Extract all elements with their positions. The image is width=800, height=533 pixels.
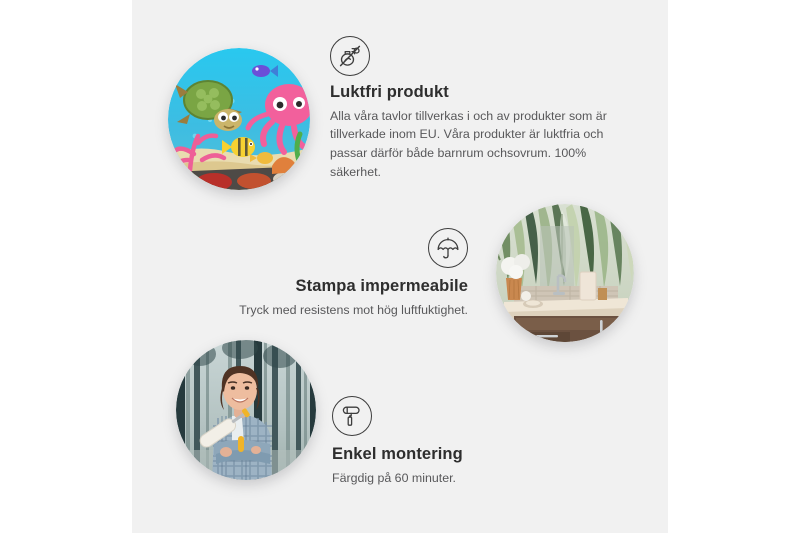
bathroom-tropical-wallpaper-photo	[496, 204, 634, 342]
feature-description: Alla våra tavlor tillverkas i och av pro…	[330, 107, 626, 181]
feature-title: Luktfri produkt	[330, 83, 626, 103]
feature-block-waterproof: Stampa impermeabile Tryck med resistens …	[190, 228, 468, 319]
feature-block-easy-mount: Enkel montering Färgdig på 60 minuter.	[332, 396, 602, 487]
feature-highlights-banner: Luktfri produkt Alla våra tavlor tillver…	[0, 0, 800, 533]
umbrella-icon	[428, 228, 468, 268]
feature-title: Enkel montering	[332, 445, 602, 465]
feature-title: Stampa impermeabile	[190, 277, 468, 297]
paint-roller-icon	[332, 396, 372, 436]
feature-description: Tryck med resistens mot hög luftfuktighe…	[190, 301, 468, 320]
underwater-cartoon-mural-photo	[168, 48, 310, 190]
woman-paint-roller-forest-photo	[176, 340, 316, 480]
feature-block-odourless: Luktfri produkt Alla våra tavlor tillver…	[330, 36, 626, 181]
no-spray-bottle-icon	[330, 36, 370, 76]
feature-description: Färgdig på 60 minuter.	[332, 469, 602, 488]
